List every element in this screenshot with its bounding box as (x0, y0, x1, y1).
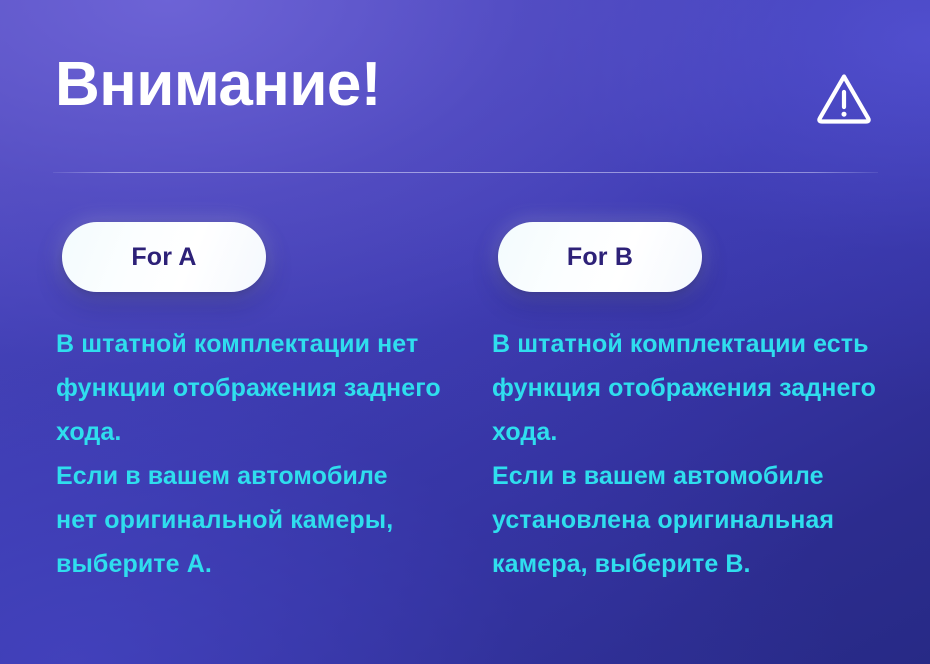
description-line: функция отображения заднего (492, 366, 890, 410)
warning-triangle-icon (814, 68, 874, 126)
option-pill-label-for-a: For A (131, 245, 196, 270)
option-pill-for-b[interactable]: For B (498, 222, 702, 292)
options-columns: For A В штатной комплектации нет функции… (0, 200, 930, 640)
warning-notice-screen: Внимание! For A В штатной комплектации н… (0, 0, 930, 664)
description-line: функции отображения заднего (56, 366, 454, 410)
description-line: В штатной комплектации есть (492, 322, 890, 366)
header: Внимание! (0, 0, 930, 176)
option-pill-wrap-for-a: For A (55, 200, 267, 318)
description-line: хода. (56, 410, 454, 454)
option-description-for-a: В штатной комплектации нет функции отобр… (56, 322, 454, 586)
header-divider (53, 172, 878, 173)
option-column-for-b: For B В штатной комплектации есть функци… (491, 200, 891, 318)
description-line: Если в вашем автомобиле (56, 454, 454, 498)
description-line: хода. (492, 410, 890, 454)
option-pill-for-a[interactable]: For A (62, 222, 266, 292)
option-description-for-b: В штатной комплектации есть функция отоб… (492, 322, 890, 586)
description-line: установлена оригинальная (492, 498, 890, 542)
option-pill-wrap-for-b: For B (491, 200, 703, 318)
description-line: В штатной комплектации нет (56, 322, 454, 366)
description-line: нет оригинальной камеры, (56, 498, 454, 542)
description-line: камера, выберите B. (492, 542, 890, 586)
option-pill-label-for-b: For B (567, 245, 633, 270)
page-title: Внимание! (55, 50, 381, 120)
description-line: выберите A. (56, 542, 454, 586)
description-line: Если в вашем автомобиле (492, 454, 890, 498)
option-column-for-a: For A В штатной комплектации нет функции… (55, 200, 455, 318)
